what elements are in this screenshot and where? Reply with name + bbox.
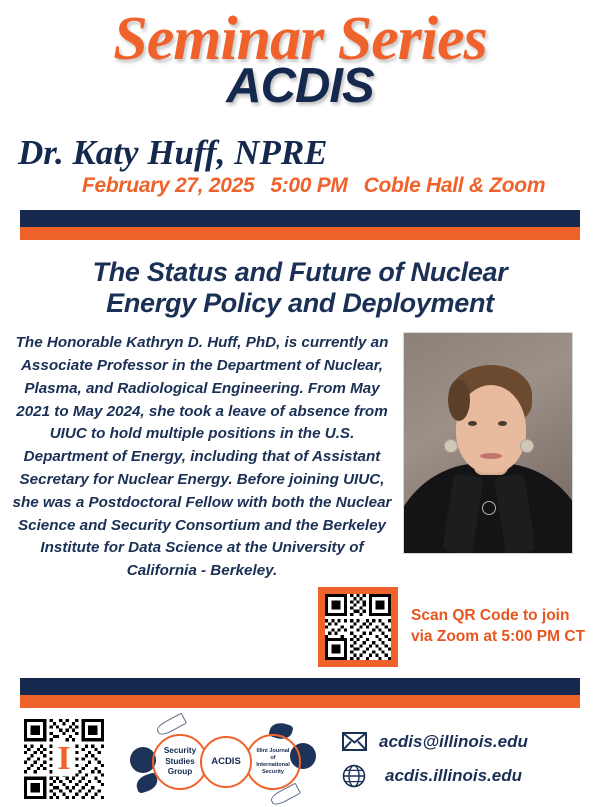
logo-illini-journal: Illini Journal of International Security <box>245 734 301 790</box>
ijis-line-2: of <box>256 755 290 762</box>
top-divider-bars <box>20 210 580 240</box>
talk-title-line-2: Energy Policy and Deployment <box>34 288 566 320</box>
bottom-divider-bars <box>20 678 580 708</box>
scan-line-2: via Zoom at 5:00 PM CT <box>411 627 585 648</box>
poster-footer: I Security Studies Group ACDIS Illini Jo… <box>0 717 600 801</box>
ssg-line-1: Security <box>164 746 196 757</box>
poster-header: Seminar Series ACDIS <box>0 0 600 128</box>
event-meta: February 27, 20255:00 PMCoble Hall & Zoo… <box>0 174 600 198</box>
ijis-line-4: Security <box>256 769 290 776</box>
talk-title: The Status and Future of Nuclear Energy … <box>34 257 566 321</box>
portrait-column <box>400 332 600 554</box>
speaker-name: Dr. Katy Huff, NPRE <box>0 134 600 173</box>
qr-code-pattern <box>325 594 391 660</box>
envelope-icon <box>340 730 368 754</box>
zoom-qr-row: Scan QR Code to join via Zoom at 5:00 PM… <box>0 587 600 667</box>
speaker-block: Dr. Katy Huff, NPRE February 27, 20255:0… <box>0 134 600 198</box>
ssg-line-3: Group <box>164 767 196 778</box>
acdis-wordmark: ACDIS <box>0 62 600 111</box>
ijis-line-1: Illini Journal <box>256 748 290 755</box>
zoom-qr-code[interactable] <box>318 587 398 667</box>
talk-title-line-1: The Status and Future of Nuclear <box>34 257 566 289</box>
contact-info: acdis@illinois.edu acdis.illinois.edu <box>340 730 528 788</box>
illinois-block-i-logo: I <box>52 742 75 776</box>
acdis-logo-label: ACDIS <box>211 756 241 767</box>
ssg-line-2: Studies <box>164 757 196 768</box>
scan-qr-instructions: Scan QR Code to join via Zoom at 5:00 PM… <box>411 606 585 648</box>
orange-bar-bottom <box>20 695 580 708</box>
ijis-line-3: International <box>256 762 290 769</box>
event-date: February 27, 2025 <box>82 174 254 197</box>
illinois-qr-code[interactable]: I <box>22 719 106 799</box>
scan-line-1: Scan QR Code to join <box>411 606 585 627</box>
orange-bar-top <box>20 227 580 240</box>
event-location: Coble Hall & Zoom <box>364 174 546 197</box>
partner-logos-group: Security Studies Group ACDIS Illini Jour… <box>128 717 318 801</box>
speaker-bio: The Honorable Kathryn D. Huff, PhD, is c… <box>0 332 400 583</box>
logo-acdis: ACDIS <box>200 736 252 788</box>
navy-bar-top <box>20 210 580 227</box>
speaker-portrait-photo <box>403 332 573 554</box>
email-contact-line[interactable]: acdis@illinois.edu <box>340 730 528 754</box>
email-address: acdis@illinois.edu <box>379 732 528 752</box>
bio-photo-row: The Honorable Kathryn D. Huff, PhD, is c… <box>0 332 600 583</box>
navy-bar-bottom <box>20 678 580 695</box>
event-time: 5:00 PM <box>270 174 347 197</box>
